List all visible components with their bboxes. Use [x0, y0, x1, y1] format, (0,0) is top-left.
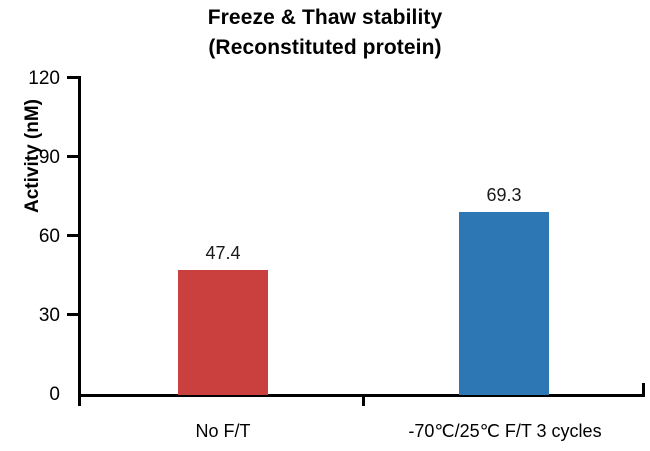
bar-no-ft[interactable]	[178, 270, 268, 395]
y-axis-line	[78, 76, 81, 397]
bar-chart: Freeze & Thaw stability (Reconstituted p…	[0, 0, 650, 451]
x-axis-category-label-no-ft: No F/T	[113, 421, 333, 441]
bar-freeze-thaw-3-cycles[interactable]	[459, 212, 549, 395]
y-tick-label-60: 60	[0, 227, 60, 246]
bar-value-label-freeze-thaw-3-cycles: 69.3	[459, 186, 549, 204]
chart-title: Freeze & Thaw stability (Reconstituted p…	[0, 3, 650, 63]
chart-title-line-1: Freeze & Thaw stability	[0, 3, 650, 33]
y-axis-origin-tick	[78, 394, 81, 406]
y-tick-label-120: 120	[0, 69, 60, 88]
bar-value-label-no-ft: 47.4	[178, 244, 268, 262]
x-axis-end-tick	[642, 383, 645, 395]
x-axis-category-label-freeze-thaw-3-cycles: -70℃/25℃ F/T 3 cycles	[365, 421, 645, 441]
chart-title-line-2: (Reconstituted protein)	[0, 33, 650, 63]
y-tick-label-90: 90	[0, 148, 60, 167]
x-axis-category-divider-tick	[362, 394, 365, 406]
y-tick-label-30: 30	[0, 306, 60, 325]
y-tick-label-0: 0	[0, 385, 60, 404]
